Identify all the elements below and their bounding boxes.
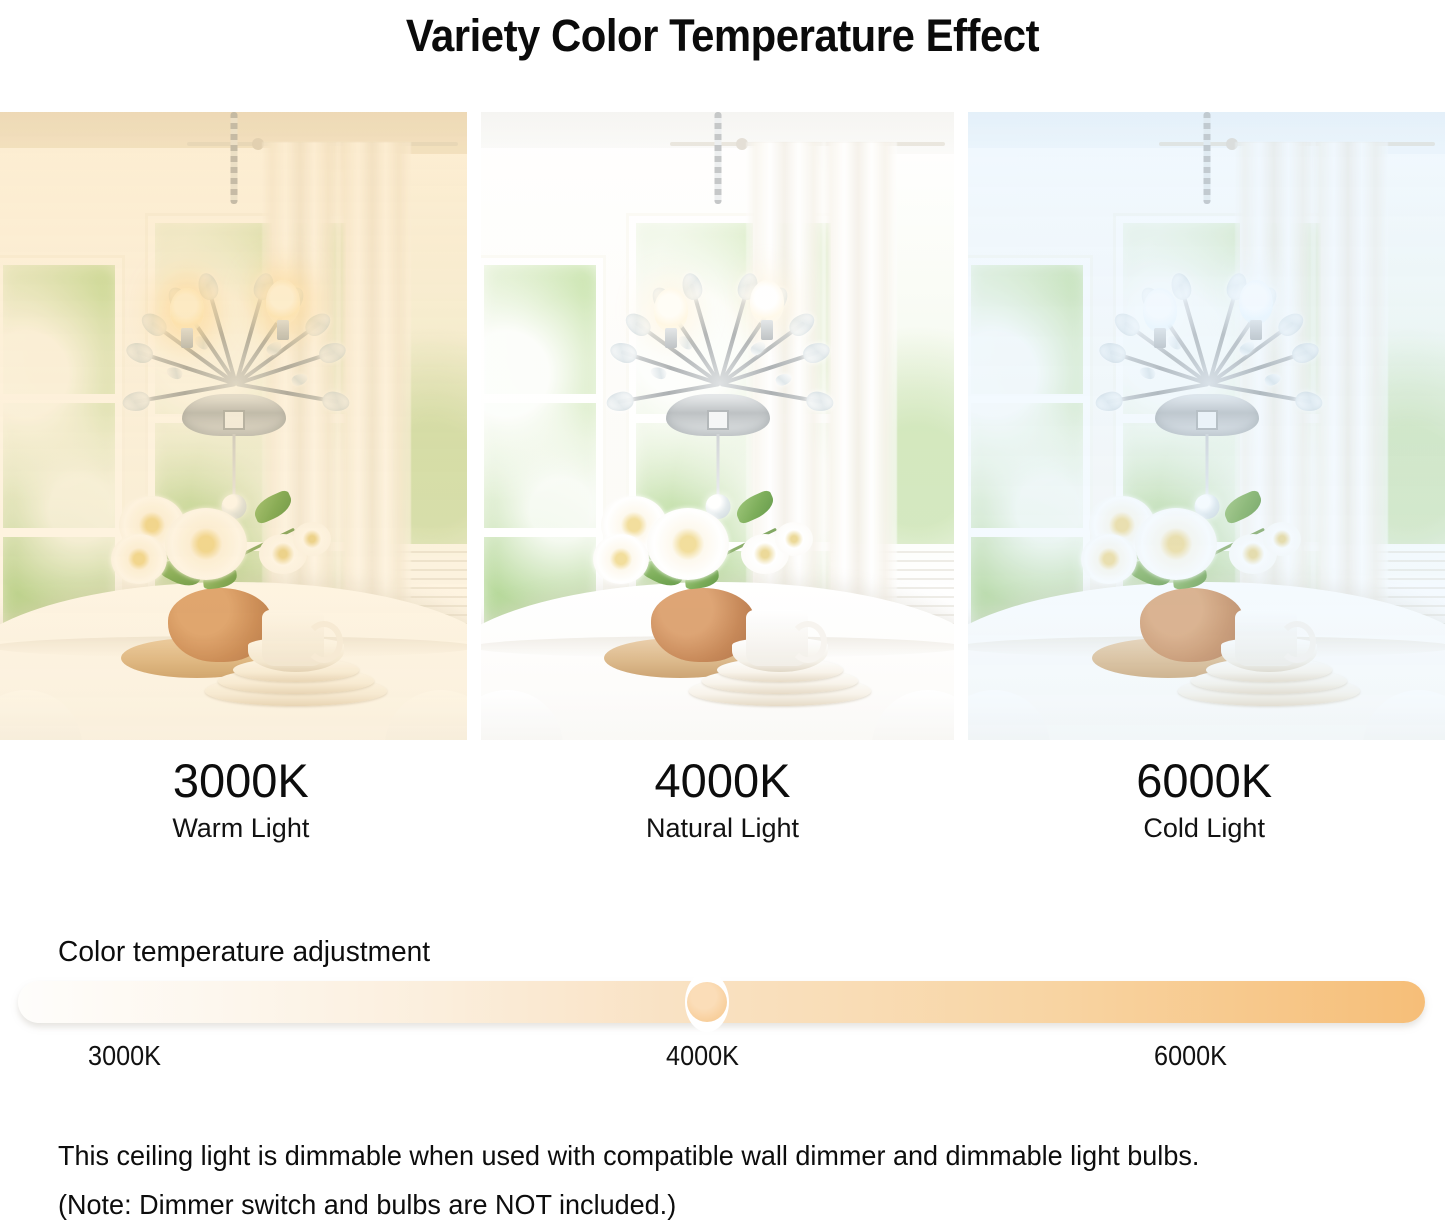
room-scene-cold	[968, 112, 1445, 740]
chandelier-arm	[1178, 283, 1211, 384]
white-rose	[593, 534, 649, 584]
chandelier-arms	[84, 176, 384, 406]
comparison-panels	[0, 112, 1445, 740]
chandelier-arm	[1109, 350, 1209, 386]
footer-line-2: (Note: Dimmer switch and bulbs are NOT i…	[58, 1180, 1370, 1229]
crystal-bud-icon	[137, 309, 170, 340]
photo-panel-warm	[0, 112, 467, 740]
crystal-bud-icon	[1294, 390, 1324, 413]
chandelier-canopy	[666, 394, 770, 436]
chandelier-arm	[620, 350, 720, 386]
caption-kelvin: 3000K	[0, 752, 482, 810]
crystal-leaf-icon	[264, 339, 283, 357]
white-rose	[1135, 508, 1217, 580]
green-leaf	[1220, 489, 1265, 525]
white-rose	[165, 508, 247, 580]
crystal-leaf-icon	[165, 365, 184, 380]
light-bulb	[1143, 288, 1177, 332]
photo-panel-cold	[968, 112, 1445, 740]
caption-description: Natural Light	[482, 810, 964, 846]
caption-kelvin: 6000K	[963, 752, 1445, 810]
caption-description: Cold Light	[963, 810, 1445, 846]
light-bulb	[170, 288, 204, 332]
canopy-plate	[707, 410, 729, 430]
chandelier-arms	[568, 176, 868, 406]
light-bulb	[266, 280, 300, 324]
white-rose	[1081, 534, 1137, 584]
canopy-plate	[1196, 410, 1218, 430]
crystal-leaf-icon	[1237, 339, 1256, 357]
crystal-bud-icon	[1096, 339, 1128, 365]
chandelier-canopy	[1155, 394, 1259, 436]
crystal-leaf-icon	[748, 339, 767, 357]
crystal-bud-icon	[321, 390, 351, 413]
coffee-mug	[262, 610, 324, 666]
chandelier-arm	[1207, 283, 1240, 384]
crystal-bud-icon	[121, 390, 151, 413]
chandelier-arm	[150, 321, 236, 385]
crystal-bud-icon	[301, 309, 334, 340]
light-bulb	[1239, 280, 1273, 324]
crystal-leaf-icon	[1138, 365, 1157, 380]
crystal-bud-icon	[607, 339, 639, 365]
chandelier-canopy	[182, 394, 286, 436]
chandelier-arm	[634, 321, 720, 385]
white-blossom	[293, 522, 331, 556]
chandelier-arm	[718, 283, 751, 384]
slider-tick-4000k: 4000K	[666, 1040, 739, 1072]
flower-arrangement	[585, 478, 815, 608]
page-title: Variety Color Temperature Effect	[406, 10, 1039, 62]
flower-arrangement	[1073, 478, 1303, 608]
slider-ticks: 3000K 4000K 6000K	[0, 1040, 1445, 1080]
crystal-leaf-icon	[1263, 372, 1282, 387]
white-rose	[647, 508, 729, 580]
crystal-leaf-icon	[774, 372, 793, 387]
slider-tick-6000k: 6000K	[1154, 1040, 1227, 1072]
green-leaf	[732, 489, 777, 525]
crystal-leaf-icon	[649, 365, 668, 380]
photo-panel-natural	[481, 112, 954, 740]
crystal-bud-icon	[800, 339, 832, 365]
crystal-bud-icon	[1094, 390, 1124, 413]
chandelier-arm	[234, 283, 267, 384]
chandelier-arm	[1123, 321, 1209, 385]
slider-knob[interactable]	[685, 972, 729, 1032]
chandelier-arms	[1057, 176, 1357, 406]
chandelier-arm	[235, 350, 335, 386]
chandelier-arm	[689, 283, 722, 384]
panel-captions: 3000K Warm Light 4000K Natural Light 600…	[0, 752, 1445, 862]
caption-cold: 6000K Cold Light	[963, 752, 1445, 862]
coffee-mug	[1235, 610, 1297, 666]
caption-natural: 4000K Natural Light	[482, 752, 964, 862]
chandelier-arm	[205, 283, 238, 384]
caption-kelvin: 4000K	[482, 752, 964, 810]
chandelier-arm	[136, 350, 236, 386]
chandelier-arm	[719, 350, 819, 386]
white-blossom	[1263, 522, 1301, 556]
crystal-bud-icon	[123, 339, 155, 365]
white-rose	[111, 534, 167, 584]
caption-warm: 3000K Warm Light	[0, 752, 482, 862]
flower-arrangement	[103, 478, 333, 608]
slider-knob-inner	[687, 982, 727, 1022]
white-blossom	[775, 522, 813, 556]
light-bulb	[750, 280, 784, 324]
light-bulb	[654, 288, 688, 332]
crystal-bud-icon	[1110, 309, 1143, 340]
crystal-bud-icon	[1289, 339, 1321, 365]
footer-notes: This ceiling light is dimmable when used…	[58, 1131, 1418, 1229]
slider-label: Color temperature adjustment	[58, 936, 430, 969]
title-bar: Variety Color Temperature Effect	[0, 0, 1445, 72]
crystal-bud-icon	[1274, 309, 1307, 340]
crystal-bud-icon	[621, 309, 654, 340]
green-leaf	[250, 489, 295, 525]
footer-line-1: This ceiling light is dimmable when used…	[58, 1131, 1370, 1180]
caption-description: Warm Light	[0, 810, 482, 846]
room-scene-warm	[0, 112, 467, 740]
room-scene-natural	[481, 112, 954, 740]
crystal-bud-icon	[605, 390, 635, 413]
crystal-bud-icon	[316, 339, 348, 365]
crystal-bud-icon	[805, 390, 835, 413]
chandelier-arm	[1208, 350, 1308, 386]
canopy-plate	[223, 410, 245, 430]
crystal-bud-icon	[785, 309, 818, 340]
color-temperature-slider[interactable]: Color temperature adjustment 3000K 4000K…	[0, 936, 1445, 1086]
slider-tick-3000k: 3000K	[88, 1040, 161, 1072]
crystal-leaf-icon	[290, 372, 309, 387]
coffee-mug	[746, 610, 808, 666]
